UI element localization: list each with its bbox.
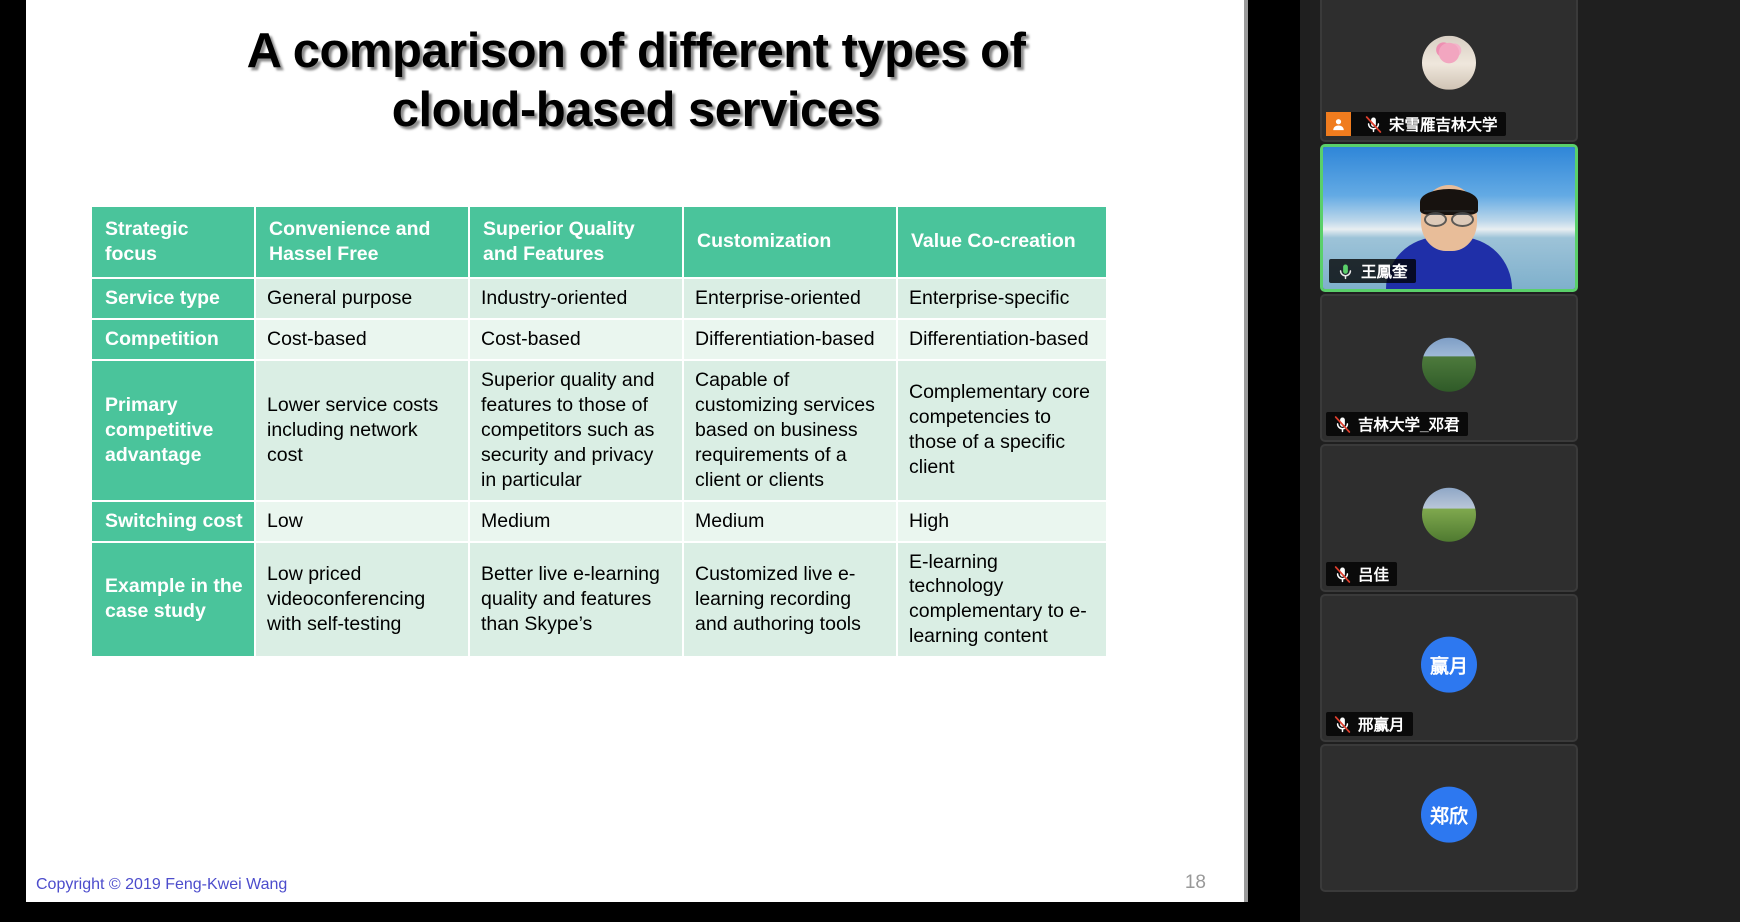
participant-name: 吕佳: [1358, 563, 1389, 585]
mic-muted-icon: [1362, 113, 1384, 135]
cell-r4-c1: Low priced videoconferencing with self-t…: [256, 543, 468, 657]
cell-r0-c3: Enterprise-oriented: [684, 279, 896, 318]
page-title-line-2: cloud-based services: [86, 81, 1186, 140]
participant-nameplate: 吉林大学_邓君: [1326, 412, 1468, 436]
cell-r4-c2: Better live e-learning quality and featu…: [470, 543, 682, 657]
table-header-row: Strategic focus Convenience and Hassel F…: [92, 207, 1106, 277]
mic-muted-icon: [1331, 413, 1353, 435]
cell-r1-c2: Cost-based: [470, 320, 682, 359]
participant-tile[interactable]: 吕佳: [1320, 444, 1578, 592]
participant-tile-active-speaker[interactable]: 王鳳奎: [1320, 144, 1578, 292]
avatar: [1422, 36, 1476, 90]
cell-r0-c2: Industry-oriented: [470, 279, 682, 318]
table-header-cell-3: Customization: [684, 207, 896, 277]
row-label-service-type: Service type: [92, 279, 254, 318]
participant-name: 王鳳奎: [1361, 260, 1408, 282]
table-row: Service type General purpose Industry-or…: [92, 279, 1106, 318]
slide-number: 18: [1185, 872, 1206, 894]
participant-tile[interactable]: 宋雪雁吉林大学: [1320, 0, 1578, 142]
cell-r3-c4: High: [898, 502, 1106, 541]
participant-name: 宋雪雁吉林大学: [1389, 113, 1498, 135]
mic-muted-icon: [1331, 563, 1353, 585]
table-header-cell-0: Strategic focus: [92, 207, 254, 277]
participant-nameplate: 宋雪雁吉林大学: [1326, 112, 1506, 136]
cell-r2-c4: Complementary core competencies to those…: [898, 361, 1106, 500]
shared-screen-region[interactable]: A comparison of different types of cloud…: [0, 0, 1300, 922]
host-icon: [1326, 112, 1351, 136]
mic-active-icon: [1334, 260, 1356, 282]
presentation-slide: A comparison of different types of cloud…: [26, 0, 1244, 902]
participant-name: 吉林大学_邓君: [1358, 413, 1460, 435]
table-header-cell-1: Convenience and Hassel Free: [256, 207, 468, 277]
copyright-notice: Copyright © 2019 Feng-Kwei Wang: [36, 876, 287, 894]
cell-r1-c3: Differentiation-based: [684, 320, 896, 359]
avatar-initials: 赢月: [1421, 637, 1477, 693]
zoom-meeting-window: A comparison of different types of cloud…: [0, 0, 1740, 922]
cell-r3-c3: Medium: [684, 502, 896, 541]
cell-r3-c1: Low: [256, 502, 468, 541]
cell-r2-c1: Lower service costs including network co…: [256, 361, 468, 500]
cell-r1-c1: Cost-based: [256, 320, 468, 359]
avatar-initials: 郑欣: [1421, 787, 1477, 843]
participant-nameplate: 王鳳奎: [1329, 259, 1416, 283]
row-label-switching-cost: Switching cost: [92, 502, 254, 541]
participant-filmstrip[interactable]: 宋雪雁吉林大学: [1300, 0, 1740, 922]
cell-r0-c4: Enterprise-specific: [898, 279, 1106, 318]
avatar: [1422, 338, 1476, 392]
cell-r0-c1: General purpose: [256, 279, 468, 318]
participant-nameplate: 吕佳: [1326, 562, 1397, 586]
cell-r4-c4: E-learning technology complementary to e…: [898, 543, 1106, 657]
cell-r3-c2: Medium: [470, 502, 682, 541]
participant-name: 邢赢月: [1358, 713, 1405, 735]
row-label-example-in-case-study: Example in the case study: [92, 543, 254, 657]
participant-nameplate: 邢赢月: [1326, 712, 1413, 736]
cell-r2-c2: Superior quality and features to those o…: [470, 361, 682, 500]
row-label-competition: Competition: [92, 320, 254, 359]
participant-tile[interactable]: 郑欣 郑欣: [1320, 744, 1578, 892]
table-header-cell-2: Superior Quality and Features: [470, 207, 682, 277]
table-header-cell-4: Value Co-creation: [898, 207, 1106, 277]
table-row: Competition Cost-based Cost-based Differ…: [92, 320, 1106, 359]
cell-r4-c3: Customized live e-learning recording and…: [684, 543, 896, 657]
table-row: Example in the case study Low priced vid…: [92, 543, 1106, 657]
table-row: Switching cost Low Medium Medium High: [92, 502, 1106, 541]
participant-tile[interactable]: 赢月 邢赢月: [1320, 594, 1578, 742]
page-title: A comparison of different types of cloud…: [86, 22, 1186, 140]
page-title-line-1: A comparison of different types of: [86, 22, 1186, 81]
participant-tile[interactable]: 吉林大学_邓君: [1320, 294, 1578, 442]
comparison-table: Strategic focus Convenience and Hassel F…: [90, 205, 1108, 658]
cell-r1-c4: Differentiation-based: [898, 320, 1106, 359]
row-label-primary-competitive-advantage: Primary competitive advantage: [92, 361, 254, 500]
participant-list: 宋雪雁吉林大学: [1310, 0, 1740, 922]
cell-r2-c3: Capable of customizing services based on…: [684, 361, 896, 500]
mic-muted-icon: [1331, 713, 1353, 735]
table-row: Primary competitive advantage Lower serv…: [92, 361, 1106, 500]
avatar: [1422, 488, 1476, 542]
slide-edge-shadow: [1244, 0, 1248, 902]
